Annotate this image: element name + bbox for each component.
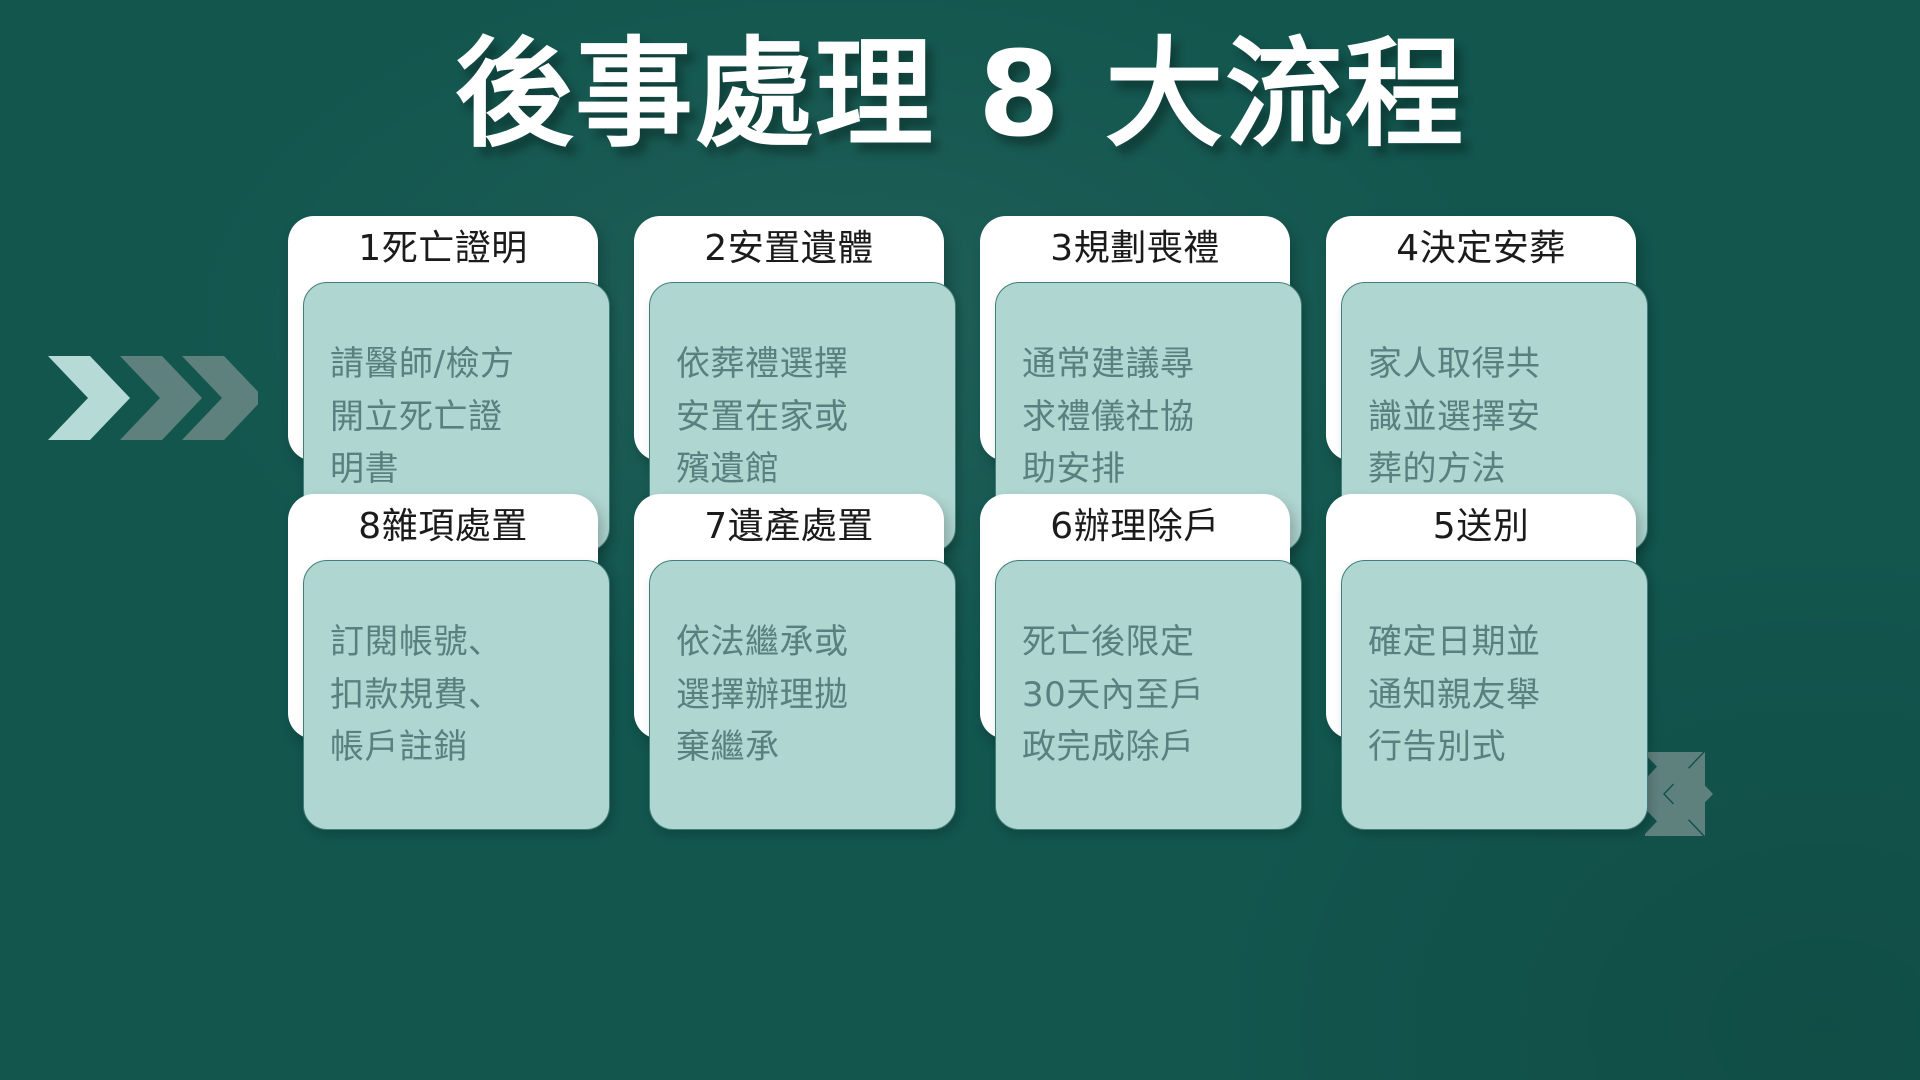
- step-card-5-line-1: 確定日期並: [1368, 616, 1621, 669]
- step-card-5-line-3: 行告別式: [1368, 721, 1621, 774]
- step-card-7[interactable]: 7遺產處置 依法繼承或 選擇辦理拋 棄繼承: [634, 494, 944, 739]
- step-card-7-text: 依法繼承或 選擇辦理拋 棄繼承: [676, 616, 929, 774]
- step-card-6-line-1: 死亡後限定: [1022, 616, 1275, 669]
- step-card-1-title: 1死亡證明: [288, 216, 598, 282]
- step-card-5-panel: 確定日期並 通知親友舉 行告別式: [1341, 560, 1648, 830]
- step-card-7-panel: 依法繼承或 選擇辦理拋 棄繼承: [649, 560, 956, 830]
- step-card-1-line-2: 開立死亡證: [330, 391, 583, 444]
- step-card-3[interactable]: 3規劃喪禮 通常建議尋 求禮儀社協 助安排: [980, 216, 1290, 461]
- step-card-7-title: 7遺產處置: [634, 494, 944, 560]
- step-card-8-text: 訂閱帳號、 扣款規費、 帳戶註銷: [330, 616, 583, 774]
- step-card-1-line-3: 明書: [330, 443, 583, 496]
- step-card-6-title: 6辦理除戶: [980, 494, 1290, 560]
- step-card-3-line-1: 通常建議尋: [1022, 338, 1275, 391]
- step-card-3-text: 通常建議尋 求禮儀社協 助安排: [1022, 338, 1275, 496]
- step-card-8-line-2: 扣款規費、: [330, 669, 583, 722]
- step-card-4-line-1: 家人取得共: [1368, 338, 1621, 391]
- step-card-2[interactable]: 2安置遺體 依葬禮選擇 安置在家或 殯遺館: [634, 216, 944, 461]
- right-arrow-group: [1645, 748, 1715, 840]
- step-card-7-line-3: 棄繼承: [676, 721, 929, 774]
- step-card-2-title: 2安置遺體: [634, 216, 944, 282]
- step-card-7-line-1: 依法繼承或: [676, 616, 929, 669]
- step-card-5-text: 確定日期並 通知親友舉 行告別式: [1368, 616, 1621, 774]
- step-card-2-line-3: 殯遺館: [676, 443, 929, 496]
- step-card-5[interactable]: 5送別 確定日期並 通知親友舉 行告別式: [1326, 494, 1636, 739]
- step-card-6-panel: 死亡後限定 30天內至戶 政完成除戶: [995, 560, 1302, 830]
- step-card-1[interactable]: 1死亡證明 請醫師/檢方 開立死亡證 明書: [288, 216, 598, 461]
- step-card-5-title: 5送別: [1326, 494, 1636, 560]
- step-card-4[interactable]: 4決定安葬 家人取得共 識並選擇安 葬的方法: [1326, 216, 1636, 461]
- step-card-2-line-2: 安置在家或: [676, 391, 929, 444]
- step-card-1-line-1: 請醫師/檢方: [330, 338, 583, 391]
- page-title: 後事處理 8 大流程: [0, 28, 1920, 160]
- step-card-3-line-2: 求禮儀社協: [1022, 391, 1275, 444]
- step-card-1-text: 請醫師/檢方 開立死亡證 明書: [330, 338, 583, 496]
- chevron-right-1-icon: [48, 356, 130, 440]
- step-card-2-text: 依葬禮選擇 安置在家或 殯遺館: [676, 338, 929, 496]
- step-card-6-text: 死亡後限定 30天內至戶 政完成除戶: [1022, 616, 1275, 774]
- right-chevrons-svg: [1645, 748, 1715, 840]
- step-card-2-line-1: 依葬禮選擇: [676, 338, 929, 391]
- step-card-3-line-3: 助安排: [1022, 443, 1275, 496]
- process-grid: 1死亡證明 請醫師/檢方 開立死亡證 明書 2安置遺體 依葬禮選擇 安置在家或 …: [288, 216, 1636, 739]
- step-card-3-title: 3規劃喪禮: [980, 216, 1290, 282]
- step-card-5-line-2: 通知親友舉: [1368, 669, 1621, 722]
- step-card-8[interactable]: 8雜項處置 訂閱帳號、 扣款規費、 帳戶註銷: [288, 494, 598, 739]
- left-arrow-group: [38, 348, 258, 448]
- step-card-8-line-3: 帳戶註銷: [330, 721, 583, 774]
- chevron-right-2-icon: [120, 356, 202, 440]
- step-card-8-panel: 訂閱帳號、 扣款規費、 帳戶註銷: [303, 560, 610, 830]
- left-chevrons-svg: [38, 348, 258, 448]
- step-card-6[interactable]: 6辦理除戶 死亡後限定 30天內至戶 政完成除戶: [980, 494, 1290, 739]
- step-card-4-title: 4決定安葬: [1326, 216, 1636, 282]
- step-card-8-title: 8雜項處置: [288, 494, 598, 560]
- step-card-4-line-3: 葬的方法: [1368, 443, 1621, 496]
- step-card-6-line-2: 30天內至戶: [1022, 669, 1275, 722]
- step-card-8-line-1: 訂閱帳號、: [330, 616, 583, 669]
- step-card-6-line-3: 政完成除戶: [1022, 721, 1275, 774]
- step-card-4-line-2: 識並選擇安: [1368, 391, 1621, 444]
- step-card-4-text: 家人取得共 識並選擇安 葬的方法: [1368, 338, 1621, 496]
- step-card-7-line-2: 選擇辦理拋: [676, 669, 929, 722]
